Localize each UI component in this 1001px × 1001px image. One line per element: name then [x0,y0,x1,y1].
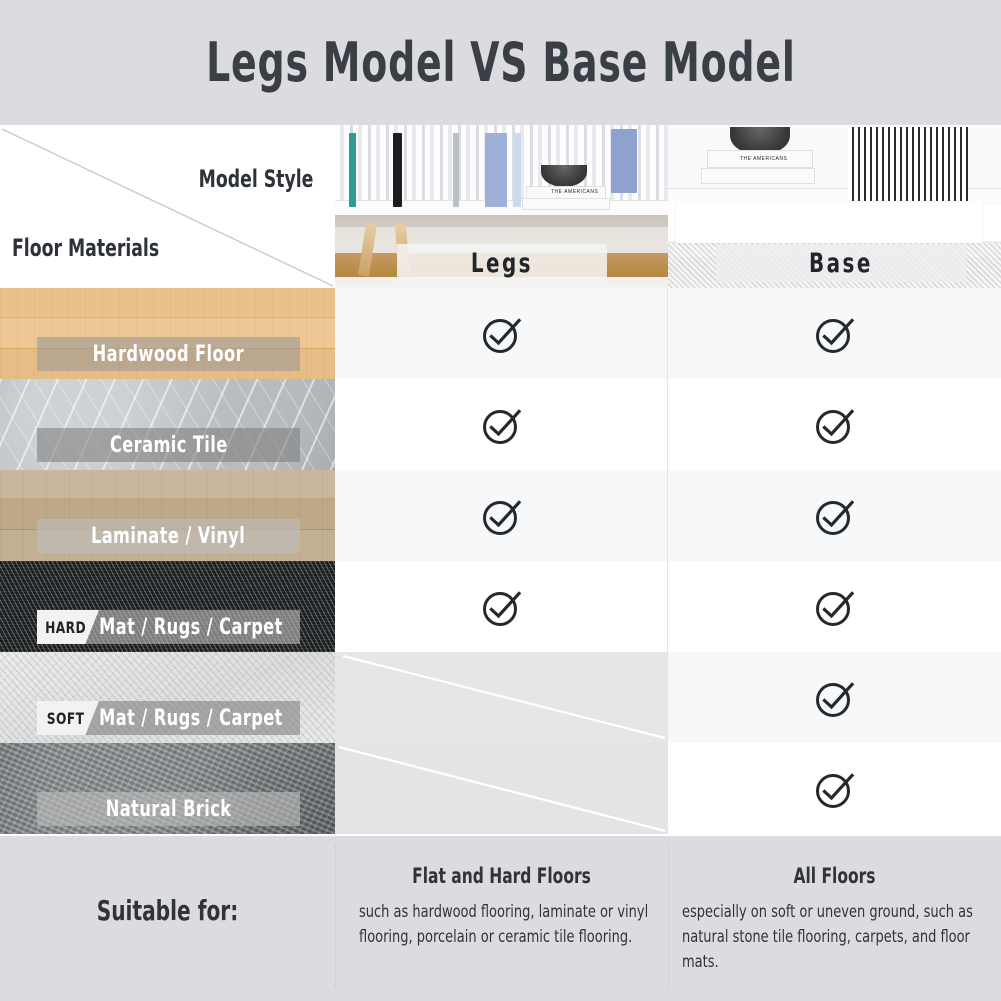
base-suitability-heading: All Floors [698,864,971,888]
check-circle-icon [812,493,858,539]
hardness-badge: HARD [37,610,99,644]
book-title-text: THE AMERICANS [551,189,598,195]
table-row: Laminate / Vinyl [0,470,1001,561]
material-label: SOFT Mat / Rugs / Carpet [37,701,300,735]
base-support-cell [668,743,1001,834]
legs-column-label: Legs [397,244,607,282]
base-support-cell [668,288,1001,379]
legs-header-cell: THE AMERICANS Legs [335,125,668,288]
base-support-cell [668,652,1001,743]
material-label-text: Hardwood Floor [93,342,244,367]
book-accent-grey [453,133,459,207]
comparison-table: Model Style Floor Materials THE AMERICAN… [0,125,1001,836]
material-label: Laminate / Vinyl [37,519,300,553]
footer-divider [335,844,336,987]
material-label-text: Laminate / Vinyl [91,524,245,549]
legs-support-cell [335,470,668,561]
check-circle-icon [812,311,858,357]
check-circle-icon [812,402,858,448]
not-supported-strike-icon [335,652,668,743]
base-support-cell [668,379,1001,470]
page-title: Legs Model VS Base Model [206,31,795,94]
check-circle-icon [812,766,858,812]
hardness-badge-text: HARD [45,618,86,637]
not-supported-strike-icon [335,743,668,834]
furniture-base-slab [676,203,982,243]
base-header-cell: THE AMERICANS Base [668,125,1001,288]
hardness-badge: SOFT [37,701,99,735]
book-accent-periwinkle [611,129,637,193]
table-row: Hardwood Floor [0,288,1001,379]
suitable-for-cell: Suitable for: [0,836,335,1001]
base-suitability-cell: All Floors especially on soft or uneven … [668,836,1001,1001]
footer-divider [668,844,669,987]
table-row: Ceramic Tile [0,379,1001,470]
book-accent-blue [485,133,507,207]
check-circle-icon [479,493,525,539]
material-cell: Natural Brick [0,743,335,834]
check-circle-icon [479,402,525,448]
book-accent-lightblue [513,133,521,207]
table-row: SOFT Mat / Rugs / Carpet [0,652,1001,743]
material-cell: Laminate / Vinyl [0,470,335,561]
material-cell: Ceramic Tile [0,379,335,470]
check-circle-icon [479,584,525,630]
material-label-text: Natural Brick [106,797,232,822]
legs-support-cell [335,561,668,652]
legs-support-cell [335,288,668,379]
material-label-text: Mat / Rugs / Carpet [99,706,283,731]
material-label: Natural Brick [37,792,300,826]
hardness-badge-text: SOFT [47,709,85,728]
material-label-text: Ceramic Tile [110,433,228,458]
vertical-books-decor [848,127,968,201]
book-accent-teal [349,133,356,207]
book-stack [702,169,814,183]
book-accent-dark [393,133,402,207]
base-support-cell [668,561,1001,652]
table-header-row: Model Style Floor Materials THE AMERICAN… [0,125,1001,288]
material-cell: Hardwood Floor [0,288,335,379]
legs-not-supported-cell [335,652,668,743]
footer-section: Suitable for: Flat and Hard Floors such … [0,836,1001,1001]
table-row: HARD Mat / Rugs / Carpet [0,561,1001,652]
check-circle-icon [812,675,858,721]
suitable-for-label: Suitable for: [34,894,302,927]
material-cell: HARD Mat / Rugs / Carpet [0,561,335,652]
legs-suitability-cell: Flat and Hard Floors such as hardwood fl… [335,836,668,1001]
legs-suitability-body: such as hardwood flooring, laminate or v… [359,900,674,950]
legs-support-cell [335,379,668,470]
material-label: Hardwood Floor [37,337,300,371]
check-circle-icon [479,311,525,357]
check-circle-icon [812,584,858,630]
model-style-label: Model Style [198,165,313,193]
legs-suitability-heading: Flat and Hard Floors [365,864,638,888]
furniture-leg [358,223,377,276]
base-column-label-text: Base [809,248,873,279]
floor-materials-label: Floor Materials [12,234,159,262]
comparison-infographic: Legs Model VS Base Model Model Style Flo… [0,0,1001,1001]
material-label: HARD Mat / Rugs / Carpet [37,610,300,644]
base-support-cell [668,470,1001,561]
base-suitability-body: especially on soft or uneven ground, suc… [682,900,1001,975]
material-cell: SOFT Mat / Rugs / Carpet [0,652,335,743]
legs-column-label-text: Legs [471,248,533,279]
book-title-text: THE AMERICANS [740,156,787,162]
material-label-text: Mat / Rugs / Carpet [99,615,283,640]
table-row: Natural Brick [0,743,1001,834]
corner-header-cell: Model Style Floor Materials [0,125,335,288]
legs-not-supported-cell [335,743,668,834]
title-bar: Legs Model VS Base Model [0,0,1001,125]
book-stack [523,199,609,209]
material-label: Ceramic Tile [37,428,300,462]
diagonal-divider-icon [0,125,335,288]
base-column-label: Base [716,244,966,282]
